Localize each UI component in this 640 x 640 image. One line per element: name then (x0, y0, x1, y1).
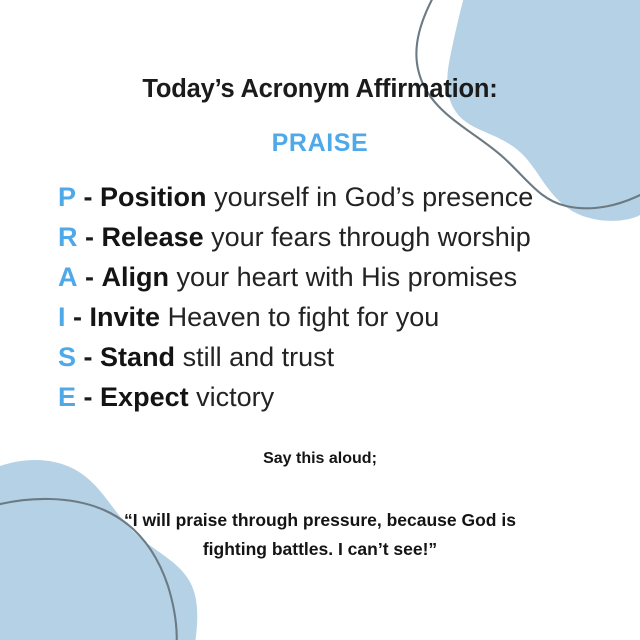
acronym-phrase: yourself in God’s presence (214, 182, 533, 212)
acronym-keyword: Expect (100, 382, 189, 412)
acronym-dash: - (85, 222, 94, 252)
acronym-letter: E (58, 382, 76, 412)
acronym-phrase: Heaven to fight for you (168, 302, 440, 332)
quote-line-2: fighting battles. I can’t see!” (80, 535, 560, 564)
acronym-line-r: R - Release your fears through worship (58, 217, 628, 257)
acronym-line-a: A - Align your heart with His promises (58, 257, 628, 297)
say-this-aloud-label: Say this aloud; (0, 450, 640, 468)
acronym-phrase: victory (196, 382, 274, 412)
acronym-line-i: I - Invite Heaven to fight for you (58, 297, 628, 337)
acronym-letter: R (58, 222, 78, 252)
acronym-phrase: your heart with His promises (177, 262, 518, 292)
acronym-letter: I (58, 302, 66, 332)
affirmation-quote: “I will praise through pressure, because… (80, 506, 560, 564)
acronym-keyword: Align (102, 262, 170, 292)
acronym-keyword: Position (100, 182, 207, 212)
acronym-line-p: P - Position yourself in God’s presence (58, 177, 628, 217)
acronym-dash: - (73, 302, 82, 332)
acronym-dash: - (85, 262, 94, 292)
affirmation-poster: Today’s Acronym Affirmation: PRAISE P - … (0, 0, 640, 640)
acronym-dash: - (84, 182, 93, 212)
acronym-letter: A (58, 262, 78, 292)
acronym-phrase: still and trust (183, 342, 335, 372)
acronym-line-e: E - Expect victory (58, 377, 628, 417)
acronym-letter: S (58, 342, 76, 372)
acronym-keyword: Invite (90, 302, 161, 332)
acronym-heading: PRAISE (0, 129, 640, 158)
acronym-keyword: Stand (100, 342, 175, 372)
acronym-dash: - (84, 382, 93, 412)
acronym-dash: - (84, 342, 93, 372)
acronym-keyword: Release (102, 222, 204, 252)
quote-line-1: “I will praise through pressure, because… (80, 506, 560, 535)
page-title: Today’s Acronym Affirmation: (0, 75, 640, 104)
acronym-letter: P (58, 182, 76, 212)
acronym-line-s: S - Stand still and trust (58, 337, 628, 377)
acronym-phrase: your fears through worship (211, 222, 531, 252)
acronym-list: P - Position yourself in God’s presence … (58, 177, 628, 417)
